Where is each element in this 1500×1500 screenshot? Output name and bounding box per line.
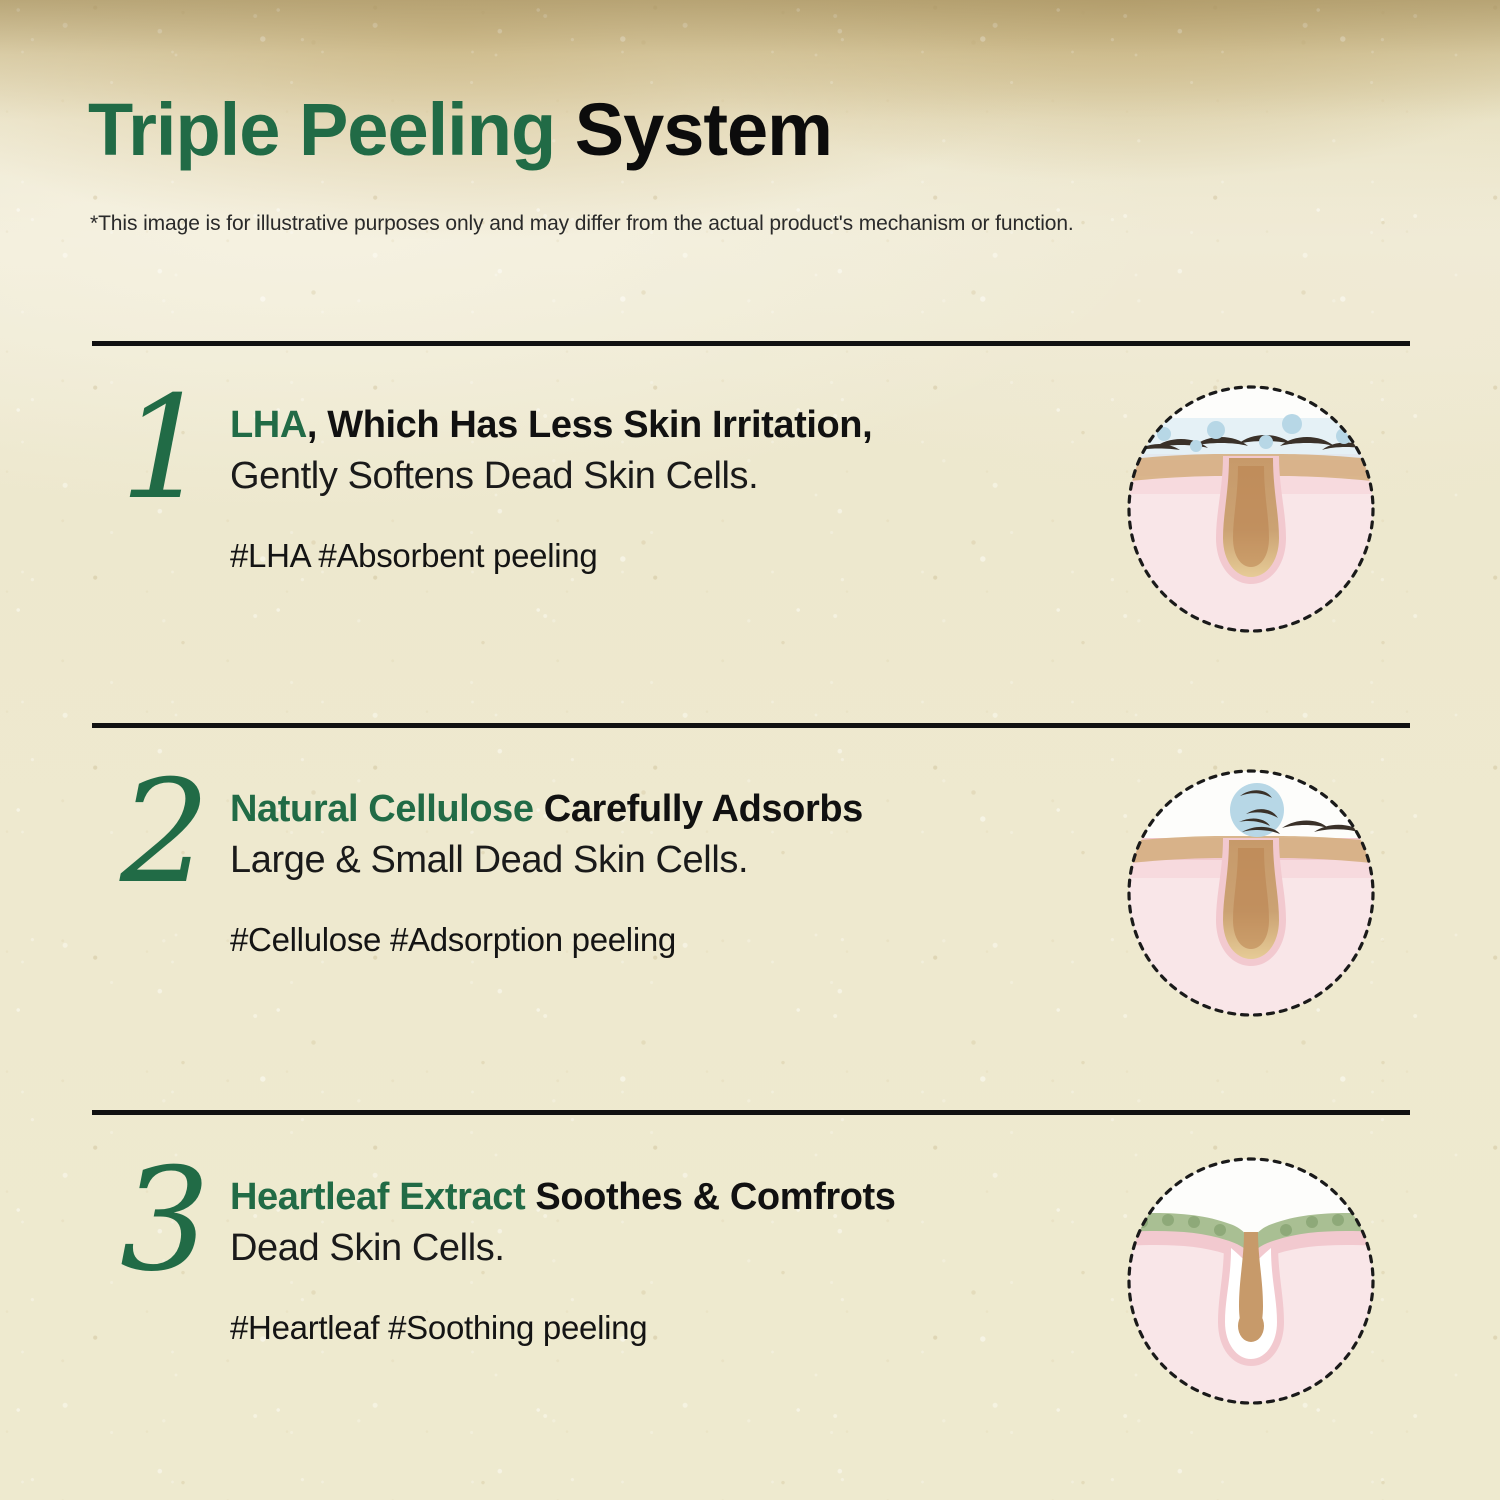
step-headline-black-1: , Which Has Less Skin Irritation, bbox=[307, 404, 872, 446]
step-subline-3: Dead Skin Cells. bbox=[230, 1223, 1160, 1274]
step-headline-3: Heartleaf Extract Soothes & Comfrots bbox=[230, 1172, 1160, 1223]
step-headline-green-2: Natural Cellulose bbox=[230, 788, 534, 830]
step-number-3: 3 bbox=[100, 1150, 230, 1292]
section-divider-2 bbox=[92, 723, 1410, 728]
step-row-2: 2 Natural Cellulose Carefully Adsorbs La… bbox=[92, 762, 1410, 1062]
infographic-page: Triple Peeling System *This image is for… bbox=[0, 0, 1500, 1500]
step-text-2: Natural Cellulose Carefully Adsorbs Larg… bbox=[230, 784, 1160, 959]
step-headline-black-3: Soothes & Comfrots bbox=[525, 1176, 895, 1218]
step-headline-green-1: LHA bbox=[230, 404, 307, 446]
page-title-green-part: Triple Peeling bbox=[88, 88, 575, 171]
step-headline-green-3: Heartleaf Extract bbox=[230, 1176, 525, 1218]
section-divider-1 bbox=[92, 341, 1410, 346]
step-hashtags-3: #Heartleaf #Soothing peeling bbox=[230, 1309, 1160, 1347]
step-headline-black-2: Carefully Adsorbs bbox=[534, 788, 863, 830]
step-hashtags-1: #LHA #Absorbent peeling bbox=[230, 537, 1160, 575]
skin-pore-cellulose-adsorption-icon bbox=[1120, 762, 1382, 1024]
step-row-3: 3 Heartleaf Extract Soothes & Comfrots D… bbox=[92, 1150, 1410, 1450]
section-divider-3 bbox=[92, 1110, 1410, 1115]
step-number-1: 1 bbox=[100, 378, 230, 520]
step-headline-1: LHA, Which Has Less Skin Irritation, bbox=[230, 400, 1160, 451]
step-text-3: Heartleaf Extract Soothes & Comfrots Dea… bbox=[230, 1172, 1160, 1347]
step-headline-2: Natural Cellulose Carefully Adsorbs bbox=[230, 784, 1160, 835]
skin-pore-heartleaf-soothing-icon bbox=[1120, 1150, 1382, 1412]
step-subline-1: Gently Softens Dead Skin Cells. bbox=[230, 451, 1160, 502]
step-hashtags-2: #Cellulose #Adsorption peeling bbox=[230, 921, 1160, 959]
disclaimer-text: *This image is for illustrative purposes… bbox=[90, 212, 1074, 236]
step-number-2: 2 bbox=[100, 762, 230, 904]
page-title-black-part: System bbox=[575, 88, 832, 171]
step-text-1: LHA, Which Has Less Skin Irritation, Gen… bbox=[230, 400, 1160, 575]
step-row-1: 1 LHA, Which Has Less Skin Irritation, G… bbox=[92, 378, 1410, 678]
step-subline-2: Large & Small Dead Skin Cells. bbox=[230, 835, 1160, 886]
content-layer: Triple Peeling System *This image is for… bbox=[0, 0, 1500, 1500]
page-title: Triple Peeling System bbox=[88, 93, 832, 167]
skin-pore-lha-softening-icon bbox=[1120, 378, 1382, 640]
